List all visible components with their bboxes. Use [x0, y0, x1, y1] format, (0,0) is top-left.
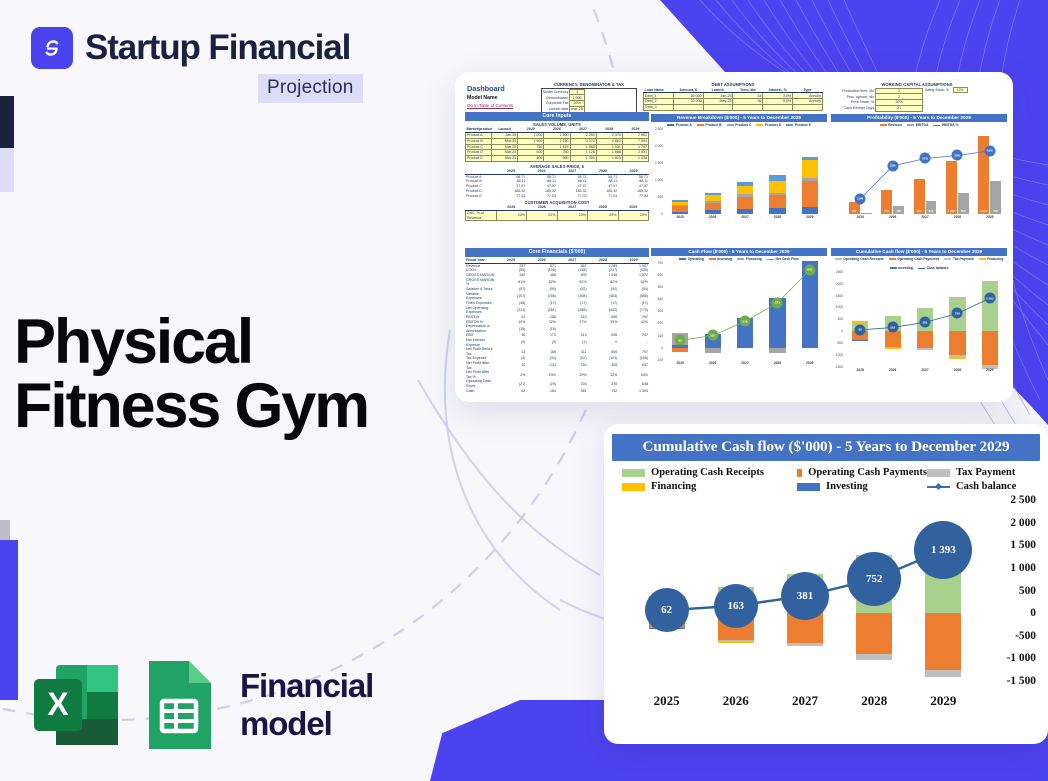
core-inputs-column: Core Inputs SALES VOLUME, UNITS Market/p… — [465, 112, 649, 221]
model-name-label: Model Name — [467, 95, 513, 101]
plot-area: 621633817521 393 — [632, 500, 978, 681]
table-cell: 77,03 — [496, 194, 527, 199]
legend-item: Operating Cash Payments — [889, 257, 940, 261]
table-cell: 20% — [618, 211, 649, 221]
table-cell: (211) — [496, 306, 527, 315]
sales-volume-rows: Product AJan-251 0001 5002 2502 3752 962… — [466, 133, 649, 162]
table-row: GROSS MARGIN %81%82%82%82%82% — [465, 278, 649, 287]
y-tick: 0 — [661, 212, 663, 216]
core-inputs-section-bar: Core Inputs — [465, 112, 649, 121]
legend-swatch — [786, 124, 793, 126]
y-tick: 600 — [658, 273, 663, 277]
table-cell: 82% — [557, 278, 588, 287]
legend-operating-cash-receipts: Operating Cash Receipts — [622, 467, 797, 478]
debt-rows: Debt_160 000Jan-25243,0%AnnuityDebt_230 … — [644, 93, 823, 110]
table-cell: (542) — [588, 306, 619, 315]
legend-item: Cash balance — [918, 266, 948, 270]
x-axis-labels: 20252026202720282029 — [632, 687, 978, 713]
x-tick: 2028 — [941, 368, 973, 378]
currency-block-header: CURRENCY, DENOMINATOR & TAX — [541, 82, 637, 87]
x-tick: 2028 — [761, 361, 793, 371]
legend-label-cash-balance: Cash balance — [956, 481, 1016, 492]
currency-block: CURRENCY, DENOMINATOR & TAX Model Curren… — [541, 82, 637, 115]
table-cell: Cash Receipt Days — [829, 105, 876, 111]
mini-bars — [664, 129, 826, 214]
legend-swatch — [835, 258, 842, 260]
table-cell: (1) — [557, 338, 588, 347]
bar-segment — [802, 181, 818, 207]
y-tick: 2500 — [836, 270, 843, 274]
table-cell: 400 — [518, 156, 544, 162]
bar-column — [664, 129, 696, 214]
table-cell: Cash — [465, 388, 496, 393]
svg-text:X: X — [47, 686, 69, 722]
line-point-label: 32% — [887, 160, 898, 171]
table-row: Product EMar-254009001 3501 8251 038 — [466, 156, 649, 162]
dashboard-header: Dashboard Model Name Go to Table of Cont… — [467, 84, 513, 108]
page-title-line-1: Physical — [14, 310, 434, 374]
line-point-label: 39% — [952, 150, 963, 161]
x-tick: 2028 — [941, 215, 973, 225]
table-row: Denomination1 000 — [542, 95, 584, 101]
cumulative-cash-flow-card[interactable]: Cumulative Cash flow ($'000) - 5 Years t… — [604, 424, 1048, 744]
line-point-label: 62 — [675, 335, 686, 346]
stack-positive — [672, 200, 688, 213]
brand-name: Startup Financial — [85, 28, 350, 68]
y-tick: -1500 — [835, 365, 843, 369]
profitability-plot: 297315711858573131 2855061 90779710%32%3… — [831, 129, 1007, 225]
legend-swatch — [979, 258, 986, 260]
legend-item: Product E — [786, 123, 811, 127]
y-tick: 500 — [658, 285, 663, 289]
table-row: Debt_3 — [644, 104, 823, 110]
y-tick: 500 — [1019, 585, 1036, 597]
table-cell: 62 — [496, 388, 527, 393]
legend-swatch-green — [622, 469, 645, 477]
table-cell: 168 — [526, 347, 557, 356]
brand-subtitle: Projection — [258, 74, 363, 103]
legend-swatch — [709, 258, 716, 260]
debt-block: DEBT ASSUMPTIONS Loan NameAmount, $Launc… — [643, 82, 823, 111]
e-mark-icon — [31, 27, 73, 69]
wc-extra: Safety Stock, % 10% — [925, 88, 968, 92]
bar-segment — [705, 210, 721, 213]
table-cell: 20% — [557, 211, 588, 221]
table-cell: 797 — [618, 347, 649, 356]
x-tick: 2025 — [664, 215, 696, 225]
table-cell: Net Profit Before Tax — [465, 347, 496, 356]
legend-item: Financing — [979, 257, 1004, 261]
table-cell: 33% — [618, 370, 649, 379]
y-tick: -1000 — [835, 353, 843, 357]
table-cell: Net Operating Expenses — [465, 306, 496, 315]
mini-y-axis: 2 5002 0001 5001 0005000 — [651, 129, 664, 214]
y-tick: -500 — [1015, 630, 1036, 642]
legend-swatch-line — [927, 483, 950, 491]
x-tick: 2026 — [701, 687, 770, 709]
mini-y-axis — [831, 129, 844, 214]
cash-flow-plot: 7006005004003002001000-10062101218371641… — [651, 263, 827, 371]
legend-swatch-yellow — [622, 483, 645, 491]
legend-swatch — [890, 267, 897, 269]
table-cell: 77,03 — [526, 194, 557, 199]
x-tick: 2029 — [794, 215, 826, 225]
wc-table: Production time, Mo2Proc. upfront, Mo2Pr… — [829, 88, 923, 112]
table-cell: Mar-25 — [492, 156, 518, 162]
bar-column — [729, 129, 761, 214]
y-tick: -1 000 — [1007, 652, 1036, 664]
table-row: Model Currency1 — [542, 89, 584, 95]
legend-item: Product A — [667, 123, 692, 127]
table-cell: 163 — [526, 388, 557, 393]
cumulative-cash-flow-chart-mini: Cumulative Cash flow ($'000) - 5 Years t… — [831, 248, 1007, 388]
y-tick: 1 000 — [655, 178, 663, 182]
col-header: Market/product — [466, 127, 492, 132]
revenue-breakdown-plot: 2 5002 0001 5001 00050002025202620272028… — [651, 129, 827, 225]
y-tick: 0 — [841, 329, 843, 333]
table-cell: - — [618, 324, 649, 333]
legend-item: Net Cash Flow — [767, 257, 799, 261]
legend-swatch — [679, 258, 686, 260]
bar-column — [696, 129, 728, 214]
bar-segment — [802, 160, 818, 178]
table-cell: 3% — [496, 370, 527, 379]
table-row: Cash Receipt Days21 — [829, 105, 923, 111]
bar-segment — [769, 195, 785, 208]
table-cell: Fixed Expenses — [465, 301, 496, 306]
y-tick: 2 500 — [1010, 494, 1036, 506]
table-row: Product E77,0377,0377,0377,0377,03 — [465, 194, 649, 199]
core-financials-table: Fiscal Year20252026202720282029 Revenue2… — [465, 258, 649, 393]
cash-flow-chart: Cash Flow ($'000) - 5 Years to December … — [651, 248, 827, 388]
avg-price-rows: Product A58,7158,7158,7158,7158,71Produc… — [465, 174, 649, 198]
legend-swatch — [767, 259, 774, 260]
legend-swatch — [933, 125, 940, 126]
table-cell: 900 — [544, 156, 570, 162]
table-cell: 77,03 — [618, 194, 649, 199]
legend-item: Investing — [890, 266, 913, 270]
cumulative-cash-flow-legend-mini: Operating Cash ReceiptsOperating Cash Pa… — [831, 256, 1007, 272]
table-row: Net Interest Expense(3)(2)(1)0- — [465, 338, 649, 347]
y-tick: 100 — [658, 334, 663, 338]
mini-plot-area: 621633817521 393 — [844, 272, 1006, 367]
table-cell: 1 825 — [596, 156, 622, 162]
table-cell: (107) — [496, 292, 527, 301]
currency-table: Model Currency1Denomination1 000Corporat… — [541, 88, 637, 114]
debt-table: Loan NameAmount, $LaunchTerm, MoInterest… — [643, 88, 823, 111]
wc-rows: Production time, Mo2Proc. upfront, Mo2Pr… — [829, 88, 923, 111]
mini-y-axis: 7006005004003002001000-100 — [651, 263, 664, 360]
line-point-label: 101 — [707, 330, 718, 341]
table-cell: (21) — [496, 379, 527, 388]
brand-logo: Startup Financial — [31, 27, 350, 69]
profitability-legend: RevenueEBITDAEBITDA % — [831, 122, 1007, 129]
mini-y-axis: 25002000150010005000-500-1000-1500 — [831, 272, 844, 367]
profitability-chart: Profitability ($'000) - 5 Years to Decem… — [831, 114, 1007, 242]
toc-link[interactable]: Go to Table of Contents — [467, 103, 513, 108]
stack-positive — [802, 157, 818, 214]
legend-item: Product C — [727, 123, 752, 127]
line-point-label: 218 — [740, 316, 751, 327]
table-cell: Net Profit After Tax % — [465, 370, 496, 379]
cash-balance-bubble: 163 — [714, 584, 758, 628]
table-cell: (15) — [526, 324, 557, 333]
core-financials-column: Core Financials ($'000) Fiscal Year20252… — [465, 248, 649, 393]
cash-balance-bubble: 381 — [781, 572, 829, 620]
bar-segment — [737, 186, 753, 194]
bar-segment — [769, 208, 785, 213]
mini-plot-area — [664, 129, 826, 214]
bar-segment — [672, 212, 688, 214]
mini-x-axis: 20252026202720282029 — [664, 215, 826, 225]
y-tick: 1 500 — [1010, 539, 1036, 551]
y-tick: 0 — [661, 346, 663, 350]
table-cell: 82% — [618, 278, 649, 287]
table-cell: 77,03 — [588, 194, 619, 199]
x-tick: 2025 — [632, 687, 701, 709]
table-cell: - — [557, 324, 588, 333]
wc-block: WORKING CAPITAL ASSUMPTIONS Production t… — [829, 82, 1005, 112]
legend-row-2: Financing Investing Cash balance — [622, 481, 1036, 492]
table-cell: (15) — [496, 324, 527, 333]
cumulative-cash-flow-chart: Cumulative Cash flow ($'000) - 5 Years t… — [612, 434, 1040, 738]
y-tick: 200 — [658, 321, 663, 325]
solid-arc-1 — [418, 380, 600, 575]
table-cell: 506 — [588, 347, 619, 356]
table-cell: Denomination — [542, 95, 570, 101]
table-cell: 381 — [557, 388, 588, 393]
y-tick: 2 000 — [1010, 517, 1036, 529]
x-tick: 2025 — [844, 368, 876, 378]
table-cell: (308) — [557, 292, 588, 301]
line-point-label: 371 — [772, 297, 783, 308]
brand-subtitle-wrap: Projection — [258, 74, 363, 103]
table-row: Net Profit Before Tax13168311506797 — [465, 347, 649, 356]
table-cell: 203 — [557, 379, 588, 388]
x-tick: 2026 — [696, 215, 728, 225]
legend-item: Operating Cash Receipts — [835, 257, 884, 261]
y-tick: 2 500 — [655, 127, 663, 131]
revenue-breakdown-title: Revenue Breakdown ($'000) - 5 Years to D… — [651, 114, 827, 122]
bar-column — [794, 129, 826, 214]
legend-cash-balance: Cash balance — [927, 481, 1016, 492]
legend-item: Product D — [756, 123, 781, 127]
table-cell: GROSS MARGIN % — [465, 278, 496, 287]
cac-rows: CAC, % of Revenue20%20%20%20%20% — [466, 211, 649, 221]
y-tick: 1 500 — [655, 161, 663, 165]
line-point-label: 752 — [952, 308, 963, 319]
y-tick: 500 — [658, 195, 663, 199]
table-cell: 81% — [496, 278, 527, 287]
x-tick: 2025 — [664, 361, 696, 371]
mini-plot-area: 297315711858573131 2855061 90779710%32%3… — [844, 129, 1006, 214]
legend-item: EBITDA — [907, 123, 928, 127]
table-cell: (206) — [526, 292, 557, 301]
y-tick: 1000 — [836, 305, 843, 309]
y-tick: 1 000 — [1010, 562, 1036, 574]
table-cell: Variable Expenses — [465, 292, 496, 301]
legend-label-payments: Operating Cash Payments — [808, 467, 927, 478]
table-cell: 1 350 — [570, 156, 596, 162]
table-cell: Operating Cash Flows — [465, 379, 496, 388]
table-row: Net Profit After Tax %3%23%29%32%33% — [465, 370, 649, 379]
table-cell: (385) — [557, 306, 588, 315]
table-cell: 20% — [496, 211, 527, 221]
x-tick: 2027 — [770, 687, 839, 709]
table-cell: - — [618, 338, 649, 347]
wc-block-header: WORKING CAPITAL ASSUMPTIONS — [829, 82, 1005, 87]
x-tick: 2029 — [794, 361, 826, 371]
table-row: Depreciation & Amortization(15)(15)--- — [465, 324, 649, 333]
legend-financing: Financing — [622, 481, 797, 492]
table-row: Net Profit After Tax10134250405637 — [465, 361, 649, 370]
y-tick: 1500 — [836, 294, 843, 298]
table-cell: 13 — [496, 347, 527, 356]
table-cell: 20% — [588, 211, 619, 221]
table-cell: 32% — [588, 370, 619, 379]
x-tick: 2027 — [729, 361, 761, 371]
line-point-label: 1 393 — [984, 293, 995, 304]
legend-item: Tax Payment — [944, 257, 973, 261]
legend-label-investing: Investing — [826, 481, 868, 492]
legend-investing: Investing — [797, 481, 927, 492]
legend-item: Investing — [709, 257, 732, 261]
legend-swatch — [907, 124, 914, 126]
cash-flow-title: Cash Flow ($'000) - 5 Years to December … — [651, 248, 827, 256]
legend-swatch — [756, 124, 763, 126]
legend-swatch — [697, 124, 704, 126]
legend-swatch — [727, 124, 734, 126]
legend-operating-cash-payments: Operating Cash Payments — [797, 467, 927, 478]
table-cell: 10 — [496, 361, 527, 370]
y-tick: 2 000 — [655, 144, 663, 148]
table-cell: (463) — [588, 292, 619, 301]
y-tick: 2000 — [836, 282, 843, 286]
mini-line — [844, 129, 1006, 214]
legend-swatch-gray — [927, 469, 950, 477]
y-tick: -100 — [657, 358, 663, 362]
legend-item: EBITDA % — [933, 123, 958, 127]
table-cell — [763, 104, 793, 110]
table-cell: 29% — [557, 370, 588, 379]
bar-segment — [705, 203, 721, 211]
table-cell — [793, 104, 823, 110]
mini-plot-area: 62101218371641 — [664, 263, 826, 360]
table-cell: Product E — [466, 156, 492, 162]
table-cell: 376 — [588, 379, 619, 388]
x-tick: 2028 — [761, 215, 793, 225]
table-cell: Salaries & Taxes — [465, 287, 496, 292]
table-cell: 1 038 — [622, 156, 648, 162]
legend-item: Product B — [697, 123, 722, 127]
bar-segment — [769, 181, 785, 193]
line-point-label: 37% — [920, 153, 931, 164]
page-title: Physical Fitness Gym — [14, 310, 434, 439]
y-tick: 0 — [1030, 607, 1036, 619]
y-tick: 400 — [658, 297, 663, 301]
legend-swatch — [667, 124, 674, 126]
x-tick: 2029 — [974, 368, 1006, 378]
legend-swatch-orange — [797, 469, 802, 477]
cac-table: 20252026202720282029 CAC, % of Revenue20… — [465, 205, 649, 221]
x-tick: 2029 — [909, 687, 978, 709]
x-tick: 2028 — [840, 687, 909, 709]
legend-swatch — [889, 258, 896, 260]
table-cell: 20% — [527, 211, 558, 221]
table-cell: 23% — [526, 370, 557, 379]
cumulative-cash-flow-plot: 2 5002 0001 5001 0005000-500-1 000-1 500… — [612, 500, 1040, 715]
line-point-label: 10% — [855, 193, 866, 204]
table-cell: (3) — [496, 338, 527, 347]
x-tick: 2026 — [876, 215, 908, 225]
table-cell: (281) — [526, 306, 557, 315]
x-tick: 2027 — [909, 368, 941, 378]
line-point-label: 42% — [984, 145, 995, 156]
cumulative-cash-flow-title: Cumulative Cash flow ($'000) - 5 Years t… — [612, 434, 1040, 461]
wc-extra-value: 10% — [953, 87, 968, 93]
table-cell: (29) — [526, 379, 557, 388]
cumulative-cash-flow-title-mini: Cumulative Cash flow ($'000) - 5 Years t… — [831, 248, 1007, 256]
legend-item: Revenue — [880, 123, 903, 127]
cash-balance-bubble: 62 — [645, 588, 689, 632]
table-cell: 82% — [526, 278, 557, 287]
table-row: Corporate Tax20% — [542, 101, 584, 107]
stack-positive — [705, 193, 721, 214]
dashboard-screenshot-card[interactable]: Dashboard Model Name Go to Table of Cont… — [455, 72, 1013, 402]
format-badges: X Financial model — [28, 657, 440, 753]
stack-positive — [737, 182, 753, 214]
bar-segment — [802, 207, 818, 214]
legend-swatch-blue — [797, 483, 820, 491]
debt-block-header: DEBT ASSUMPTIONS — [643, 82, 823, 87]
profitability-title: Profitability ($'000) - 5 Years to Decem… — [831, 114, 1007, 122]
y-tick: 500 — [838, 317, 843, 321]
table-row: CAC, % of Revenue20%20%20%20%20% — [466, 211, 649, 221]
left-content-panel: Startup Financial Projection Physical Fi… — [0, 0, 440, 781]
x-tick: 2025 — [844, 215, 876, 225]
legend-item: Financing — [737, 257, 762, 261]
table-row: Net Operating Expenses(211)(281)(385)(54… — [465, 306, 649, 315]
y-tick: -500 — [837, 341, 843, 345]
sales-volume-table: Market/productLaunch20252026202720282029… — [465, 127, 649, 162]
table-cell — [703, 104, 733, 110]
cash-flow-legend: OperatingInvestingFinancingNet Cash Flow — [651, 256, 827, 263]
mini-x-axis: 20252026202720282029 — [844, 368, 1006, 378]
table-cell: 77,03 — [557, 194, 588, 199]
table-cell: 405 — [588, 361, 619, 370]
table-cell: Product E — [465, 194, 496, 199]
table-cell: CAC, % of Revenue — [466, 211, 497, 221]
cumulative-cash-flow-legend: Operating Cash Receipts Operating Cash P… — [622, 467, 1036, 492]
y-tick: 300 — [658, 309, 663, 313]
table-cell — [673, 104, 703, 110]
excel-file-icon: X — [28, 657, 124, 753]
legend-label-receipts: Operating Cash Receipts — [651, 467, 764, 478]
avg-price-table: 20252026202720282029 Product A58,7158,71… — [465, 169, 649, 199]
table-cell: 82% — [588, 278, 619, 287]
y-axis-labels: 2 5002 0001 5001 0005000-500-1 000-1 500 — [980, 500, 1038, 681]
revenue-breakdown-legend: Product AProduct BProduct CProduct DProd… — [651, 122, 827, 129]
table-cell: Model Currency — [542, 89, 570, 95]
format-badge-label: Financial model — [240, 667, 440, 743]
table-cell: 250 — [557, 361, 588, 370]
table-cell: - — [588, 324, 619, 333]
x-tick: 2029 — [974, 215, 1006, 225]
line-point-label: 62 — [855, 324, 866, 335]
legend-item: Operating — [679, 257, 704, 261]
y-tick: 700 — [658, 261, 663, 265]
legend-swatch — [944, 258, 951, 260]
